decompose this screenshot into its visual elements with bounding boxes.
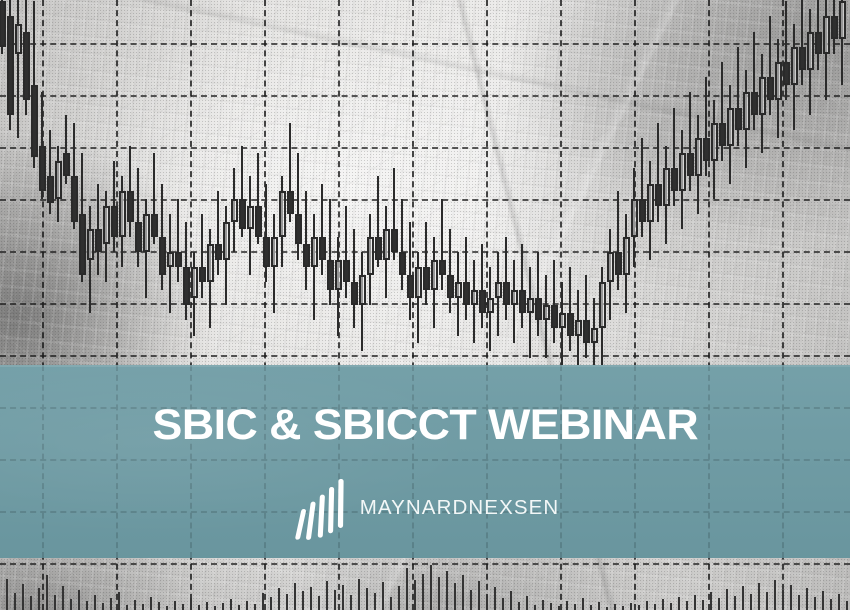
candle-body xyxy=(63,153,70,176)
candle-body xyxy=(119,191,126,237)
candlestick xyxy=(711,100,718,199)
candlestick xyxy=(199,214,206,298)
candlestick xyxy=(735,47,742,146)
candlestick xyxy=(383,206,390,297)
candle-body xyxy=(743,92,750,130)
candle-body xyxy=(159,237,166,275)
volume-bar xyxy=(550,603,552,610)
candlestick xyxy=(511,260,518,344)
candlestick xyxy=(583,275,590,359)
candle-body xyxy=(335,260,342,290)
candle-body xyxy=(247,206,254,229)
candle-wick xyxy=(769,16,771,115)
brand-logo: MAYNARDNEXSEN xyxy=(291,478,560,540)
candlestick xyxy=(495,252,502,336)
candlestick xyxy=(183,222,190,321)
volume-bar xyxy=(22,584,24,610)
candlestick xyxy=(0,0,6,54)
candle-body xyxy=(719,123,726,146)
candle-body xyxy=(839,1,846,39)
candle-body xyxy=(807,32,814,70)
candle-body xyxy=(615,252,622,275)
candle-body xyxy=(503,282,510,305)
candlestick xyxy=(23,0,30,115)
volume-bar xyxy=(382,582,384,610)
volume-bar xyxy=(414,580,416,610)
candlestick xyxy=(279,176,286,267)
candlestick xyxy=(455,252,462,336)
candle-wick xyxy=(481,244,483,328)
candlestick xyxy=(695,115,702,214)
volume-bar xyxy=(110,598,112,610)
volume-bar xyxy=(686,601,688,610)
volume-bar xyxy=(126,605,128,610)
candle-wick xyxy=(673,108,675,207)
candle-body xyxy=(519,290,526,313)
candle-body xyxy=(0,1,6,47)
volume-bar xyxy=(342,585,344,610)
candlestick xyxy=(503,237,510,321)
candle-wick xyxy=(321,184,323,275)
candle-body xyxy=(111,206,118,236)
candle-wick xyxy=(705,77,707,176)
candle-body xyxy=(607,252,614,282)
volume-bar xyxy=(206,602,208,610)
volume-bar xyxy=(454,583,456,610)
volume-bar xyxy=(470,590,472,610)
candle-body xyxy=(399,252,406,275)
volume-bar xyxy=(350,595,352,610)
candlestick xyxy=(839,0,846,85)
candle-body xyxy=(447,275,454,298)
volume-bar xyxy=(814,597,816,610)
volume-bar xyxy=(582,598,584,610)
volume-bar xyxy=(270,597,272,610)
volume-bar xyxy=(758,583,760,610)
candle-wick xyxy=(17,0,19,138)
candlestick xyxy=(591,298,598,366)
volume-bar xyxy=(310,587,312,610)
volume-bar xyxy=(302,591,304,610)
candlestick xyxy=(431,237,438,328)
candle-wick xyxy=(753,32,755,131)
volume-bar xyxy=(486,595,488,610)
volume-bar xyxy=(670,603,672,610)
candle-body xyxy=(535,298,542,321)
candle-wick xyxy=(585,275,587,359)
candle-body xyxy=(167,252,174,267)
candlestick xyxy=(759,54,766,153)
candlestick xyxy=(327,199,334,305)
candlestick xyxy=(47,130,54,214)
volume-bar xyxy=(526,596,528,610)
candle-wick xyxy=(265,184,267,283)
volume-bar xyxy=(254,604,256,610)
candle-body xyxy=(575,320,582,335)
candlestick xyxy=(823,0,830,100)
candle-wick xyxy=(657,123,659,222)
candle-wick xyxy=(177,199,179,283)
volume-bar xyxy=(510,591,512,610)
volume-bar xyxy=(326,581,328,610)
volume-bar xyxy=(134,600,136,610)
volume-bar xyxy=(334,590,336,610)
candlestick xyxy=(271,214,278,313)
volume-bar xyxy=(678,597,680,610)
volume-bar xyxy=(598,602,600,610)
volume-bar xyxy=(38,588,40,610)
volume-bar xyxy=(558,606,560,610)
candle-body xyxy=(239,199,246,229)
candle-wick xyxy=(689,92,691,191)
candle-body xyxy=(655,184,662,207)
candlestick xyxy=(87,206,94,312)
candlestick xyxy=(567,267,574,351)
candle-body xyxy=(775,62,782,100)
candlestick xyxy=(463,237,470,321)
candlestick xyxy=(551,260,558,344)
candlestick xyxy=(743,70,750,169)
candle-wick xyxy=(537,252,539,336)
volume-bar xyxy=(494,587,496,610)
candlestick xyxy=(135,168,142,267)
volume-bar xyxy=(726,589,728,610)
candlestick xyxy=(783,1,790,100)
candle-body xyxy=(671,168,678,191)
candle-body xyxy=(303,244,310,267)
candlestick xyxy=(119,176,126,267)
volume-bar xyxy=(478,581,480,610)
volume-bar xyxy=(566,601,568,610)
candle-body xyxy=(95,229,102,252)
candlestick xyxy=(519,244,526,328)
candlestick xyxy=(31,1,38,168)
candle-body xyxy=(391,229,398,252)
candlestick xyxy=(319,184,326,275)
volume-bar xyxy=(734,596,736,610)
candle-body xyxy=(191,267,198,297)
candlestick xyxy=(231,168,238,252)
volume-bar xyxy=(422,574,424,610)
webinar-banner: SBIC & SBICCT WEBINAR MAYNARDNEXSEN xyxy=(0,0,850,610)
volume-bar xyxy=(846,601,848,610)
candle-body xyxy=(295,214,302,244)
candlestick xyxy=(423,222,430,306)
candle-body xyxy=(647,184,654,222)
volume-bar xyxy=(390,597,392,610)
volume-bar xyxy=(822,591,824,610)
candlestick xyxy=(79,153,86,282)
candle-wick xyxy=(409,222,411,321)
candlestick xyxy=(295,153,302,259)
candlestick xyxy=(407,222,414,321)
candlestick xyxy=(543,275,550,359)
candlestick xyxy=(239,146,246,237)
candle-body xyxy=(623,237,630,275)
candle-wick xyxy=(785,1,787,100)
candlestick xyxy=(719,62,726,161)
candle-body xyxy=(559,313,566,328)
candle-body xyxy=(151,214,158,237)
volume-bar xyxy=(438,577,440,610)
volume-bar xyxy=(142,604,144,610)
volume-bar xyxy=(166,606,168,610)
volume-bar xyxy=(630,603,632,610)
candle-body xyxy=(463,282,470,305)
candlestick xyxy=(663,146,670,245)
candlestick xyxy=(415,252,422,343)
candle-wick xyxy=(305,191,307,290)
candlestick xyxy=(647,161,654,260)
candlestick xyxy=(575,290,582,366)
candle-body xyxy=(431,260,438,290)
volume-bar xyxy=(518,602,520,610)
candlestick xyxy=(287,123,294,222)
volume-bar xyxy=(790,585,792,610)
candle-wick xyxy=(201,214,203,298)
volume-bar xyxy=(214,606,216,610)
volume-bar xyxy=(766,592,768,610)
candlestick xyxy=(439,199,446,290)
candle-wick xyxy=(465,237,467,321)
volume-bar xyxy=(702,600,704,610)
candlestick xyxy=(367,214,374,305)
candle-body xyxy=(783,62,790,85)
candle-body xyxy=(31,85,38,157)
candle-wick xyxy=(89,206,91,312)
candlestick xyxy=(143,199,150,298)
volume-bar xyxy=(46,575,48,610)
candlestick xyxy=(623,214,630,313)
candle-wick xyxy=(569,267,571,351)
candle-body xyxy=(23,32,30,100)
volume-bar xyxy=(622,606,624,610)
candle-body xyxy=(127,191,134,221)
candlestick xyxy=(535,252,542,336)
candlestick xyxy=(63,115,70,183)
candlestick xyxy=(615,191,622,290)
volume-bar xyxy=(278,588,280,610)
volume-bar-series xyxy=(0,558,850,610)
candle-body xyxy=(455,282,462,297)
candle-wick xyxy=(617,191,619,290)
candle-body xyxy=(103,206,110,244)
candle-wick xyxy=(417,252,419,343)
candlestick xyxy=(791,24,798,130)
candle-body xyxy=(479,290,486,313)
candlestick xyxy=(375,176,382,267)
candle-wick xyxy=(449,229,451,313)
candle-wick xyxy=(441,199,443,290)
candle-body xyxy=(759,77,766,115)
candlestick xyxy=(527,267,534,358)
candlestick xyxy=(167,214,174,313)
volume-bar xyxy=(462,575,464,610)
candlestick xyxy=(639,138,646,237)
candle-body xyxy=(175,252,182,267)
candle-body xyxy=(351,282,358,305)
candle-body xyxy=(359,275,366,305)
volume-bar xyxy=(782,590,784,610)
candle-wick xyxy=(521,244,523,328)
candle-body xyxy=(71,176,78,222)
candlestick xyxy=(215,191,222,275)
candle-body xyxy=(47,176,54,203)
volume-bar xyxy=(398,586,400,610)
volume-bar xyxy=(262,593,264,610)
candlestick xyxy=(95,184,102,275)
candle-wick xyxy=(801,0,803,85)
candlestick xyxy=(479,244,486,328)
candlestick xyxy=(687,92,694,191)
volume-bar xyxy=(246,601,248,610)
volume-bar xyxy=(806,588,808,610)
volume-bar xyxy=(654,604,656,610)
volume-bar xyxy=(718,598,720,610)
candlestick xyxy=(767,16,774,115)
candlestick xyxy=(351,229,358,328)
volume-bar xyxy=(502,598,504,610)
candlestick xyxy=(815,0,822,70)
volume-bar xyxy=(750,594,752,610)
candlestick xyxy=(39,92,46,198)
volume-bar xyxy=(174,601,176,610)
candle-body xyxy=(287,191,294,214)
candlestick xyxy=(655,123,662,222)
candle-body xyxy=(271,237,278,267)
volume-bar xyxy=(102,603,104,610)
volume-bar xyxy=(694,595,696,610)
candlestick xyxy=(55,146,62,222)
candlestick xyxy=(671,108,678,207)
volume-bar xyxy=(198,605,200,610)
candle-wick xyxy=(425,222,427,306)
candle-body xyxy=(39,146,46,192)
volume-bar xyxy=(662,599,664,610)
candlestick xyxy=(727,85,734,184)
volume-bar xyxy=(230,599,232,610)
volume-bar xyxy=(62,586,64,610)
candle-body xyxy=(327,260,334,290)
candlestick xyxy=(111,161,118,252)
candle-body xyxy=(183,267,190,305)
candlestick xyxy=(447,229,454,313)
candlestick xyxy=(831,0,838,54)
volume-bar xyxy=(190,598,192,610)
candle-body xyxy=(551,305,558,328)
candlestick xyxy=(335,237,342,336)
volume-bar xyxy=(774,580,776,610)
candle-body xyxy=(407,275,414,298)
candlestick xyxy=(255,153,262,244)
candlestick xyxy=(679,130,686,229)
candle-body xyxy=(815,32,822,55)
volume-bar xyxy=(374,593,376,610)
volume-bar xyxy=(286,594,288,610)
candlestick xyxy=(247,176,254,275)
volume-bar xyxy=(830,599,832,610)
candle-body xyxy=(735,108,742,131)
volume-bar xyxy=(294,583,296,610)
candle-body xyxy=(439,260,446,275)
candlestick xyxy=(103,191,110,282)
candle-body xyxy=(471,290,478,305)
candlestick xyxy=(311,214,318,320)
volume-bar xyxy=(710,592,712,610)
candlestick xyxy=(599,267,606,366)
candle-body xyxy=(799,47,806,70)
candle-body xyxy=(423,267,430,290)
candle-body xyxy=(255,206,262,236)
volume-bar xyxy=(798,595,800,610)
volume-bar xyxy=(542,600,544,610)
candle-body xyxy=(663,168,670,206)
candle-body xyxy=(263,237,270,267)
candle-wick xyxy=(137,168,139,267)
candlestick xyxy=(263,184,270,283)
volume-bar xyxy=(238,605,240,610)
candle-body xyxy=(703,138,710,161)
candle-body xyxy=(7,16,14,115)
volume-bar xyxy=(78,590,80,610)
volume-bar xyxy=(70,599,72,610)
candle-body xyxy=(495,282,502,297)
candle-wick xyxy=(553,260,555,344)
candle-wick xyxy=(217,191,219,275)
candle-body xyxy=(79,214,86,275)
candle-body xyxy=(711,123,718,161)
candle-body xyxy=(87,229,94,259)
volume-bar xyxy=(158,602,160,610)
volume-bar xyxy=(406,568,408,610)
candle-wick xyxy=(505,237,507,321)
candle-body xyxy=(527,298,534,313)
candlestick xyxy=(775,39,782,138)
candle-body xyxy=(583,320,590,343)
maynard-nexsen-columns-mark xyxy=(291,478,349,540)
candle-wick xyxy=(313,214,315,320)
volume-bar xyxy=(86,601,88,610)
candlestick xyxy=(559,282,566,366)
volume-bar xyxy=(838,594,840,610)
volume-bar xyxy=(366,588,368,610)
volume-bar xyxy=(446,571,448,610)
volume-bar xyxy=(358,579,360,610)
candlestick xyxy=(399,199,406,290)
candlestick xyxy=(159,184,166,290)
brand-wordmark: MAYNARDNEXSEN xyxy=(360,496,560,520)
candlestick xyxy=(703,77,710,176)
candlestick xyxy=(207,229,214,328)
candle-body xyxy=(631,199,638,237)
volume-bar xyxy=(94,595,96,610)
candlestick xyxy=(359,252,366,351)
candle-body xyxy=(143,214,150,252)
candle-body xyxy=(223,222,230,260)
candle-body xyxy=(639,199,646,222)
candlestick xyxy=(751,32,758,131)
volume-bar xyxy=(742,586,744,610)
candle-body xyxy=(599,282,606,328)
volume-bar xyxy=(614,604,616,610)
candle-body xyxy=(15,24,22,54)
candle-body xyxy=(279,191,286,237)
candle-body xyxy=(215,244,222,259)
volume-bar xyxy=(318,596,320,610)
candle-wick xyxy=(529,267,531,358)
candle-body xyxy=(823,16,830,54)
volume-bar xyxy=(638,605,640,610)
